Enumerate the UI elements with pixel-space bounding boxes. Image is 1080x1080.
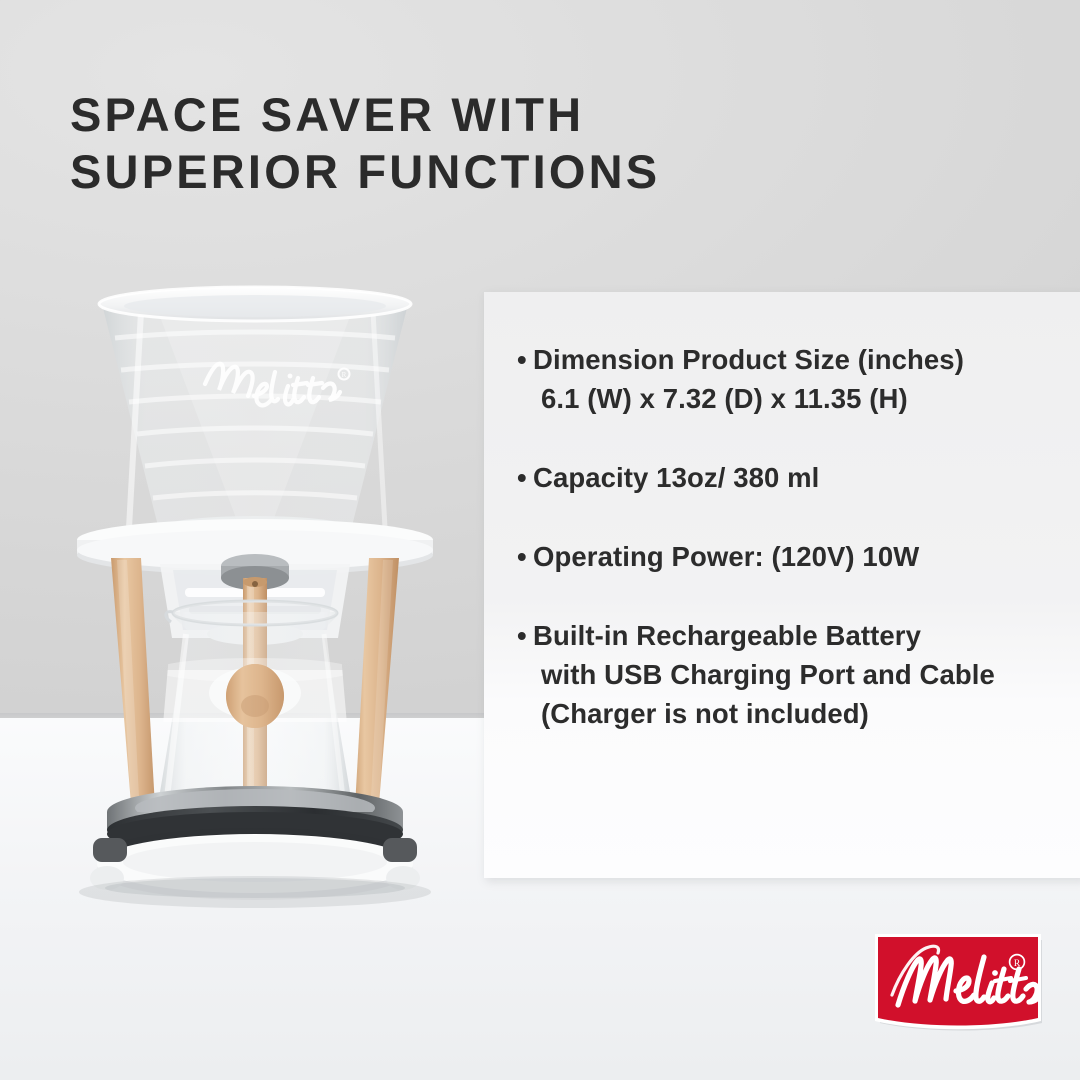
- spec-power-line-1: Operating Power: (120V) 10W: [533, 537, 1057, 576]
- spec-battery-line-3: (Charger is not included): [533, 694, 1057, 733]
- svg-text:R: R: [1014, 959, 1021, 969]
- spec-item-dimensions: • Dimension Product Size (inches) 6.1 (W…: [517, 340, 1057, 418]
- spec-item-battery: • Built-in Rechargeable Battery with USB…: [517, 616, 1057, 733]
- spec-capacity-line-1: Capacity 13oz/ 380 ml: [533, 458, 1057, 497]
- bullet-icon: •: [517, 340, 527, 379]
- spec-list: • Dimension Product Size (inches) 6.1 (W…: [517, 340, 1057, 733]
- svg-text:R: R: [342, 371, 347, 379]
- headline-line-2: SUPERIOR FUNCTIONS: [70, 143, 870, 200]
- spec-battery-line-1: Built-in Rechargeable Battery: [533, 616, 1057, 655]
- bullet-icon: •: [517, 537, 527, 576]
- product-image: R: [55, 278, 455, 938]
- spec-battery-line-2: with USB Charging Port and Cable: [533, 655, 1057, 694]
- spec-item-capacity: • Capacity 13oz/ 380 ml: [517, 458, 1057, 497]
- spec-panel: • Dimension Product Size (inches) 6.1 (W…: [484, 292, 1080, 878]
- filter-cone: [99, 287, 411, 540]
- spec-item-operating-power: • Operating Power: (120V) 10W: [517, 537, 1057, 576]
- infographic-canvas: SPACE SAVER WITH SUPERIOR FUNCTIONS: [0, 0, 1080, 1080]
- spec-dimensions-line-2: 6.1 (W) x 7.32 (D) x 11.35 (H): [533, 379, 1057, 418]
- page-title: SPACE SAVER WITH SUPERIOR FUNCTIONS: [70, 86, 870, 200]
- headline-line-1: SPACE SAVER WITH: [70, 88, 584, 141]
- spec-dimensions-line-1: Dimension Product Size (inches): [533, 340, 1057, 379]
- bullet-icon: •: [517, 616, 527, 655]
- melitta-logo: R: [874, 933, 1042, 1037]
- bullet-icon: •: [517, 458, 527, 497]
